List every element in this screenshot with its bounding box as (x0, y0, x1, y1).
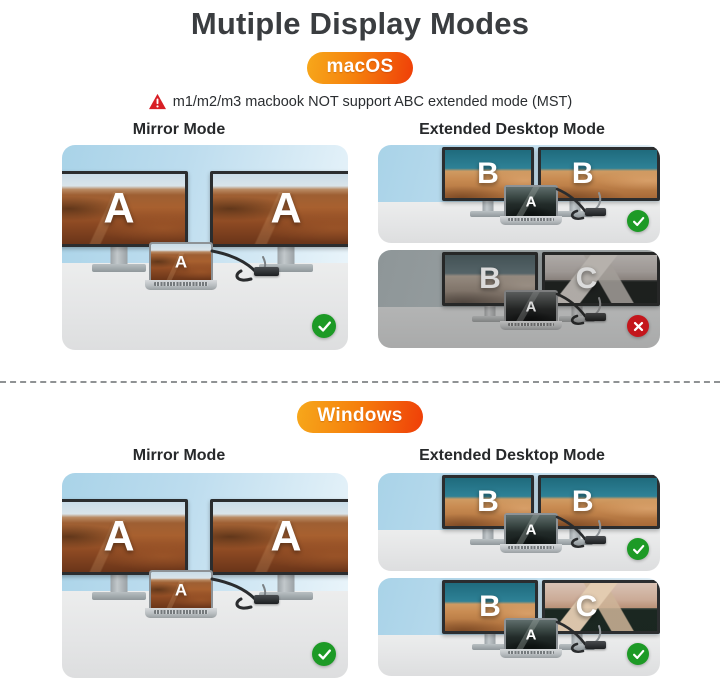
monitor-stand-base (92, 264, 146, 272)
desk-scene: B B A (378, 473, 660, 571)
usb-cable (553, 513, 613, 555)
laptop-lid: A (504, 513, 558, 544)
laptop-letter: A (151, 582, 211, 599)
laptop-lid: A (504, 290, 558, 321)
desk-scene: B C A (378, 250, 660, 348)
os-badge-windows: Windows (297, 401, 422, 433)
page-title: Mutiple Display Modes (0, 0, 720, 43)
monitor-screen: A (62, 499, 188, 575)
usb-hub-dock (585, 208, 606, 216)
usb-hub-dock (585, 641, 606, 649)
check-circle-icon (631, 214, 646, 229)
monitor-left: A (62, 499, 188, 575)
laptop-keyboard (154, 610, 208, 614)
macos-panels: A A A (0, 145, 720, 353)
macos-warning-text: m1/m2/m3 macbook NOT support ABC extende… (173, 94, 572, 110)
macos-extended-panel-bb: B B A (378, 145, 660, 243)
windows-mirror-panel: A A A (62, 473, 348, 678)
laptop-keyboard (508, 323, 554, 327)
laptop: A (504, 290, 558, 330)
laptop-keyboard (508, 546, 554, 550)
laptop-letter: A (151, 254, 211, 271)
macos-mirror-header: Mirror Mode (0, 121, 348, 139)
status-badge-ok (312, 642, 336, 666)
laptop-letter: A (506, 522, 556, 537)
desk-scene: A A A (62, 145, 348, 350)
os-badge-macos: macOS (307, 52, 414, 84)
macos-mode-headers: Mirror Mode Extended Desktop Mode (0, 121, 720, 139)
status-badge-no (627, 315, 649, 337)
section-windows: Windows Mirror Mode Extended Desktop Mod… (0, 392, 720, 681)
laptop-keyboard (508, 218, 554, 222)
monitor-right-letter: A (213, 516, 348, 559)
status-badge-ok (312, 314, 336, 338)
status-badge-ok (627, 210, 649, 232)
laptop: A (504, 618, 558, 658)
monitor-right-letter: A (213, 188, 348, 231)
usb-hub-dock (585, 313, 606, 321)
windows-extended-panel-bc: B C A (378, 578, 660, 676)
laptop-letter: A (506, 299, 556, 314)
laptop-letter: A (506, 627, 556, 642)
monitor-screen: A (62, 171, 188, 247)
monitor-left-letter: A (62, 516, 185, 559)
check-circle-icon (631, 647, 646, 662)
check-circle-icon (631, 542, 646, 557)
monitor-right: A (210, 499, 348, 575)
monitor-screen: A (210, 499, 348, 575)
section-macos: macOS m1/m2/m3 macbook NOT support ABC e… (0, 52, 720, 353)
macos-extended-panel-bc-disabled: B C A (378, 250, 660, 348)
monitor-screen: A (210, 171, 348, 247)
usb-cable (553, 290, 613, 332)
usb-hub-dock (254, 267, 279, 276)
usb-hub-dock (585, 536, 606, 544)
windows-panels: A A A (0, 473, 720, 681)
macos-warning-row: m1/m2/m3 macbook NOT support ABC extende… (0, 93, 720, 110)
monitor-left: A (62, 171, 188, 247)
laptop-keyboard (508, 651, 554, 655)
macos-extended-header: Extended Desktop Mode (348, 121, 720, 139)
macos-badge-wrap: macOS (0, 52, 720, 84)
laptop: A (504, 513, 558, 553)
laptop: A (149, 570, 213, 618)
laptop-keyboard (154, 282, 208, 286)
usb-cable (553, 618, 613, 660)
laptop-letter: A (506, 194, 556, 209)
section-divider (0, 381, 720, 383)
laptop: A (504, 185, 558, 225)
desk-scene: A A A (62, 473, 348, 678)
status-badge-ok (627, 538, 649, 560)
monitor-left-letter: A (62, 188, 185, 231)
laptop-lid: A (504, 185, 558, 216)
laptop: A (149, 242, 213, 290)
cross-circle-icon (631, 319, 646, 334)
laptop-lid: A (149, 570, 213, 608)
warning-triangle-icon (148, 93, 167, 110)
laptop-lid: A (504, 618, 558, 649)
windows-mirror-header: Mirror Mode (0, 447, 348, 465)
desk-scene: B C A (378, 578, 660, 676)
windows-badge-wrap: Windows (0, 401, 720, 433)
monitor-right: A (210, 171, 348, 247)
laptop-lid: A (149, 242, 213, 280)
status-badge-ok (627, 643, 649, 665)
windows-extended-panel-bb: B B A (378, 473, 660, 571)
windows-mode-headers: Mirror Mode Extended Desktop Mode (0, 447, 720, 465)
windows-extended-header: Extended Desktop Mode (348, 447, 720, 465)
desk-scene: B B A (378, 145, 660, 243)
check-circle-icon (316, 646, 333, 663)
usb-cable (553, 185, 613, 227)
check-circle-icon (316, 318, 333, 335)
usb-hub-dock (254, 595, 279, 604)
monitor-stand-base (92, 592, 146, 600)
macos-mirror-panel: A A A (62, 145, 348, 350)
infographic-page: { "title": "Mutiple Display Modes", "col… (0, 0, 720, 675)
